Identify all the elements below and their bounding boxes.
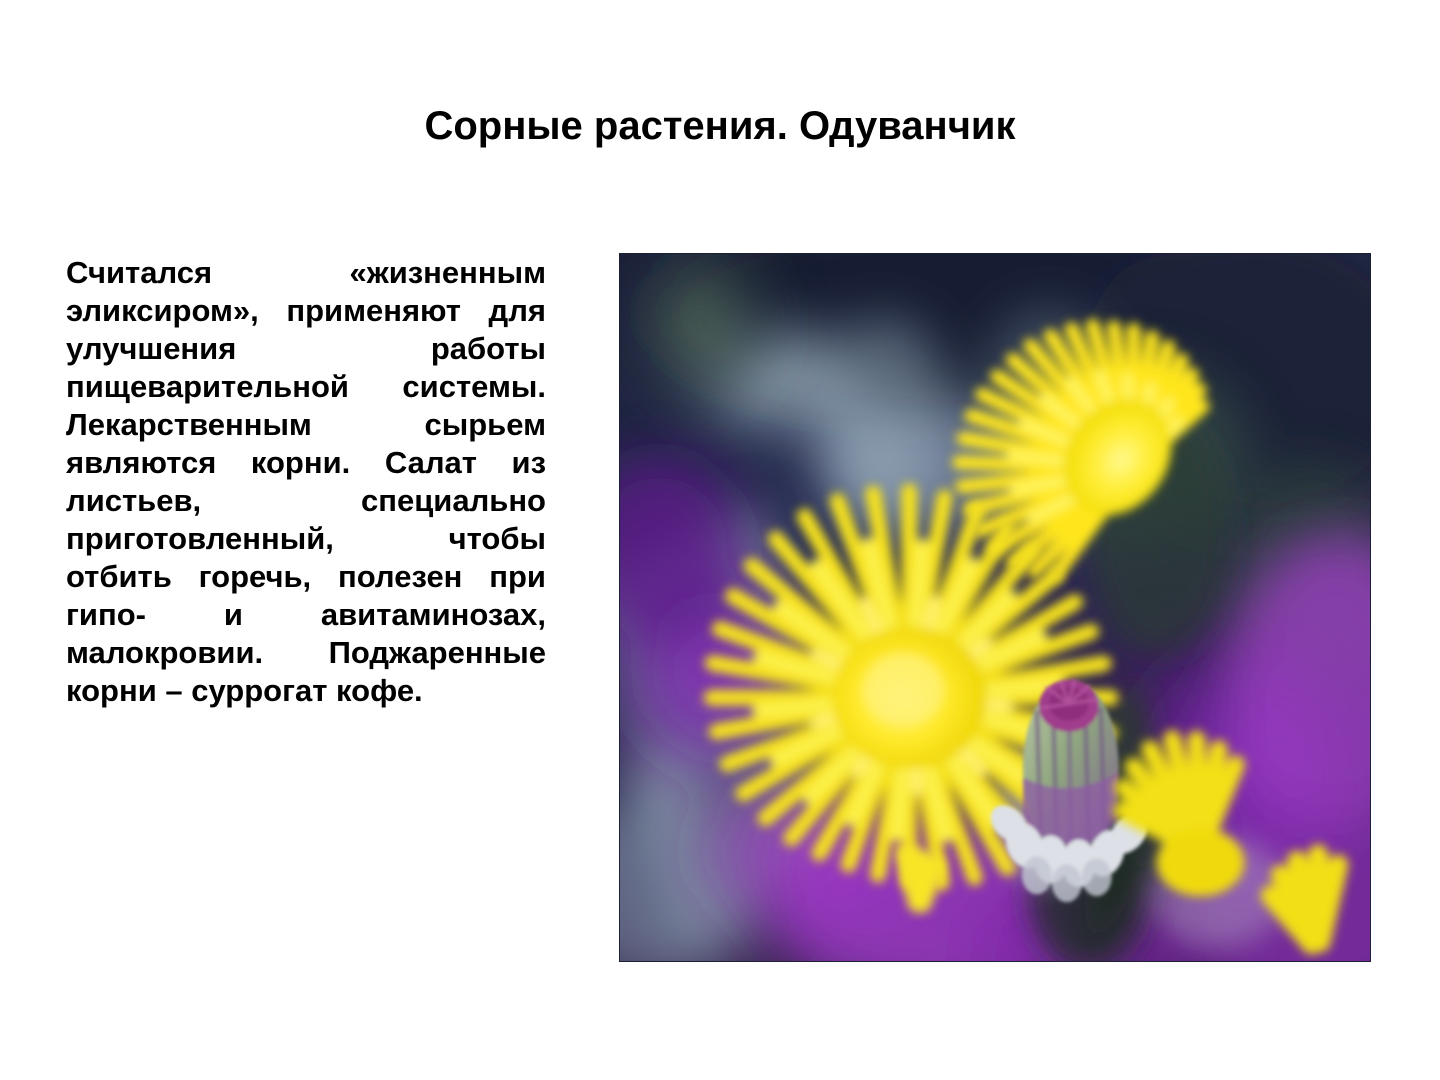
slide: Сорные растения. Одуванчик Считался «жиз…	[0, 0, 1440, 1080]
dandelion-photo-graphic	[620, 254, 1370, 961]
body-text-block: Считался «жизненным эликсиром», применяю…	[66, 254, 546, 710]
dandelion-photo	[619, 253, 1371, 962]
page-title: Сорные растения. Одуванчик	[0, 104, 1440, 148]
body-paragraph: Считался «жизненным эликсиром», применяю…	[66, 254, 546, 710]
